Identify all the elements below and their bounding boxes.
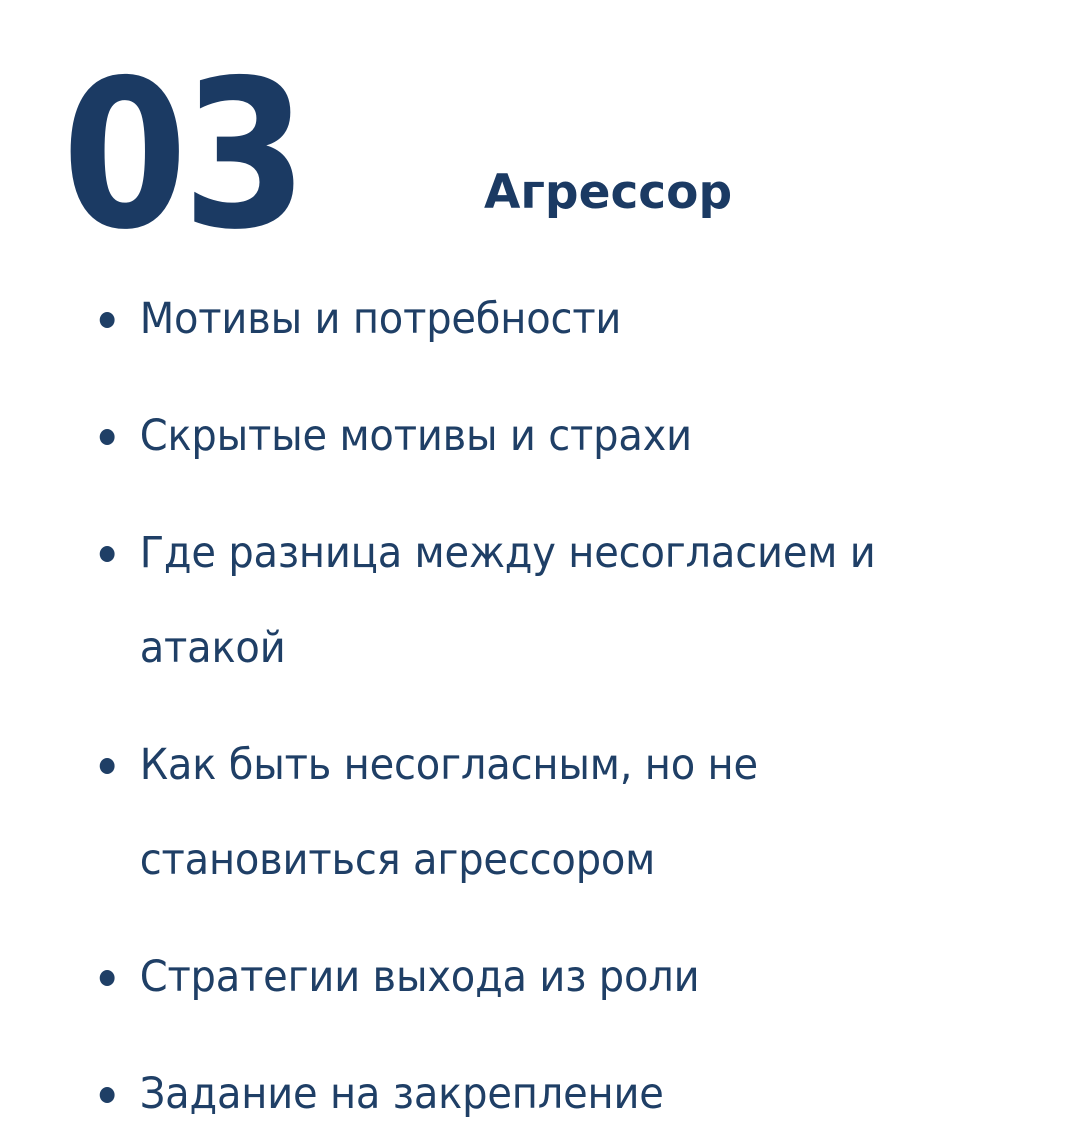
- bullet-dot-icon: [100, 758, 115, 774]
- list-item: Где разница между несогласием и атакой: [96, 506, 914, 696]
- list-item: Задание на закрепление: [96, 1047, 914, 1142]
- list-item: Стратегии выхода из роли: [96, 930, 914, 1025]
- bullet-dot-icon: [100, 546, 115, 562]
- list-item-label: Как быть несогласным, но не становиться …: [140, 718, 912, 908]
- slide-number: 03: [62, 54, 302, 259]
- bullet-list: Мотивы и потребности Скрытые мотивы и ст…: [96, 272, 976, 1142]
- list-item-label: Где разница между несогласием и атакой: [140, 506, 912, 696]
- list-item-label: Мотивы и потребности: [140, 272, 912, 367]
- list-item: Скрытые мотивы и страхи: [96, 389, 914, 484]
- bullet-dot-icon: [100, 1087, 115, 1103]
- list-item-label: Стратегии выхода из роли: [140, 930, 912, 1025]
- list-item-label: Задание на закрепление: [140, 1047, 912, 1142]
- list-item: Мотивы и потребности: [96, 272, 914, 367]
- bullet-dot-icon: [100, 312, 115, 328]
- slide-header: 03 Агрессор: [0, 0, 1080, 258]
- slide-title: Агрессор: [484, 165, 732, 220]
- bullet-dot-icon: [100, 429, 115, 445]
- bullet-dot-icon: [100, 970, 115, 986]
- slide-root: 03 Агрессор Мотивы и потребности Скрытые…: [0, 0, 1080, 1080]
- list-item-label: Скрытые мотивы и страхи: [140, 389, 912, 484]
- list-item: Как быть несогласным, но не становиться …: [96, 718, 914, 908]
